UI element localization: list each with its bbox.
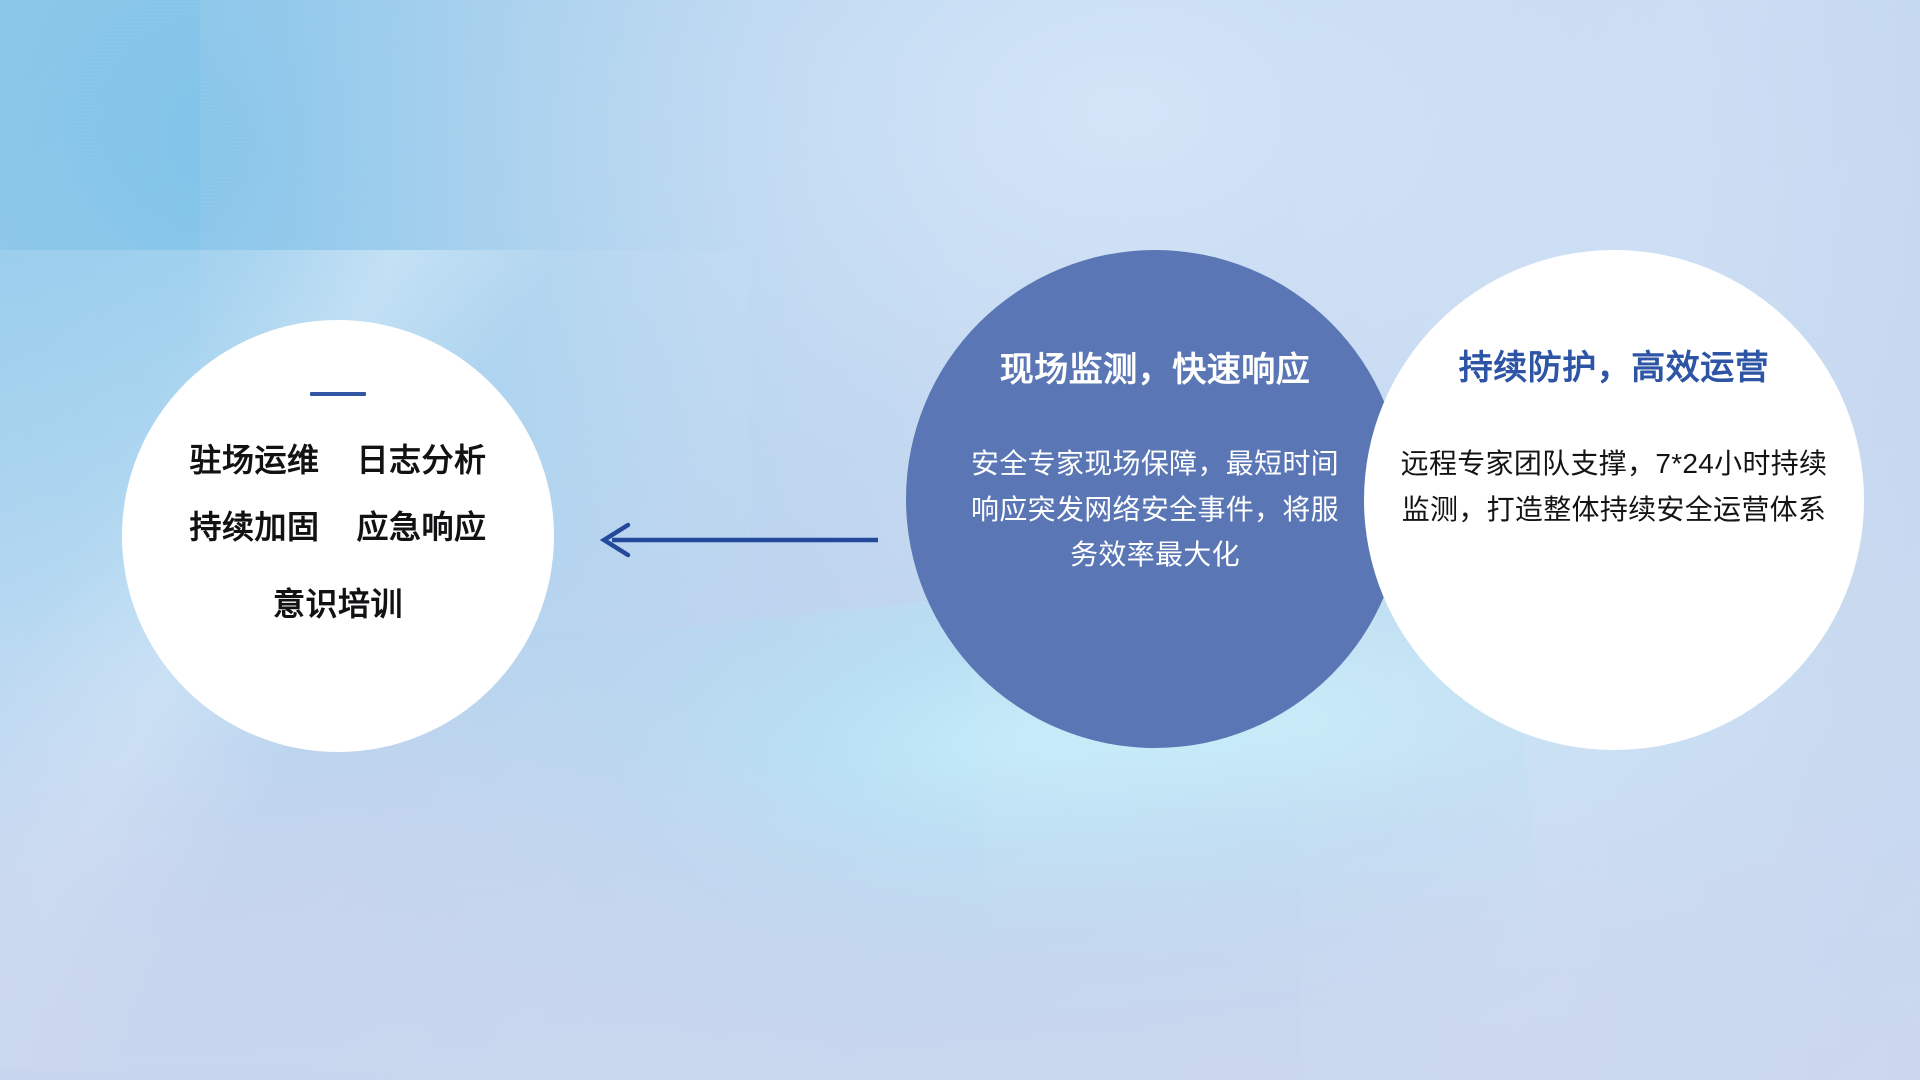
keyword-item: 应急响应 (357, 511, 487, 543)
arrow-left-icon (590, 512, 880, 568)
right-circle-body: 远程专家团队支撑，7*24小时持续监测，打造整体持续安全运营体系 (1396, 441, 1832, 532)
left-circle-content: 驻场运维 日志分析 持续加固 应急响应 意识培训 (152, 392, 524, 620)
right-white-circle: 持续防护，高效运营 远程专家团队支撑，7*24小时持续监测，打造整体持续安全运营… (1364, 250, 1864, 750)
keyword-row: 意识培训 (273, 588, 403, 620)
mid-dark-circle: 现场监测，快速响应 安全专家现场保障，最短时间响应突发网络安全事件，将服务效率最… (906, 250, 1404, 748)
mid-circle-title: 现场监测，快速响应 (1000, 352, 1311, 389)
left-keyword-circle: 驻场运维 日志分析 持续加固 应急响应 意识培训 (122, 320, 554, 752)
keyword-item: 持续加固 (189, 511, 319, 543)
horizontal-dash-icon (310, 392, 366, 396)
keyword-item: 意识培训 (273, 588, 403, 620)
right-circle-title: 持续防护，高效运营 (1459, 350, 1770, 387)
mid-circle-body: 安全专家现场保障，最短时间响应突发网络安全事件，将服务效率最大化 (966, 441, 1344, 577)
keyword-row: 持续加固 应急响应 (189, 511, 486, 543)
keyword-item: 驻场运维 (189, 444, 319, 476)
keyword-item: 日志分析 (357, 444, 487, 476)
keyword-row: 驻场运维 日志分析 (189, 444, 486, 476)
